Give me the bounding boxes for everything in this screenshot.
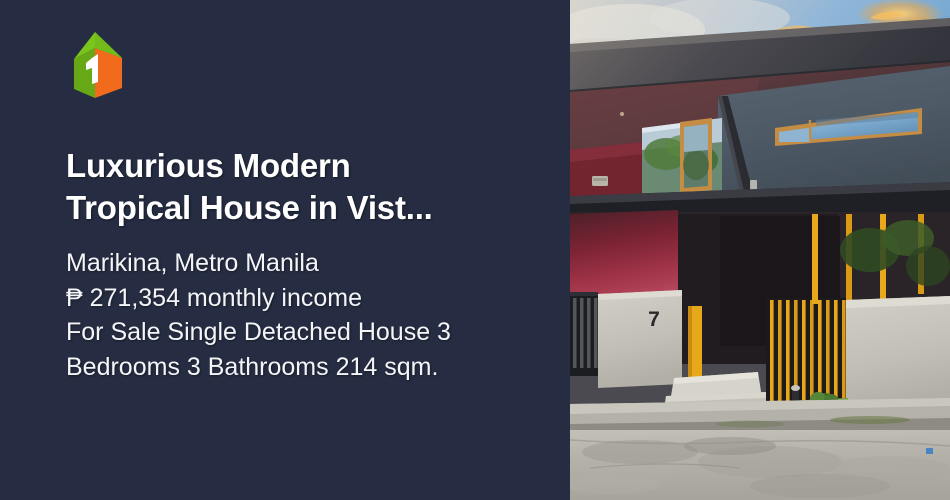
slat-gate [766,298,846,408]
corner-window [642,118,722,196]
listing-title: Luxurious Modern Tropical House in Vist.… [66,145,536,228]
house-number-label: 7 [648,308,660,331]
listing-meta-block: Marikina, Metro Manila ₱ 271,354 monthly… [66,246,536,384]
listing-details-line-2: Bedrooms 3 Bathrooms 214 sqm. [66,350,536,385]
listing-price: ₱ 271,354 monthly income [66,281,536,316]
listing-text-block: Luxurious Modern Tropical House in Vist.… [66,145,536,384]
left-fence [570,292,598,376]
property-photo: 7 [570,0,950,500]
house-one-logo-icon [64,32,126,98]
property-listing-card: Luxurious Modern Tropical House in Vist.… [0,0,950,500]
house-number-pier: 7 [598,290,682,388]
listing-details-line-1: For Sale Single Detached House 3 [66,315,536,350]
listing-info-panel: Luxurious Modern Tropical House in Vist.… [0,0,570,500]
listing-location: Marikina, Metro Manila [66,246,536,281]
